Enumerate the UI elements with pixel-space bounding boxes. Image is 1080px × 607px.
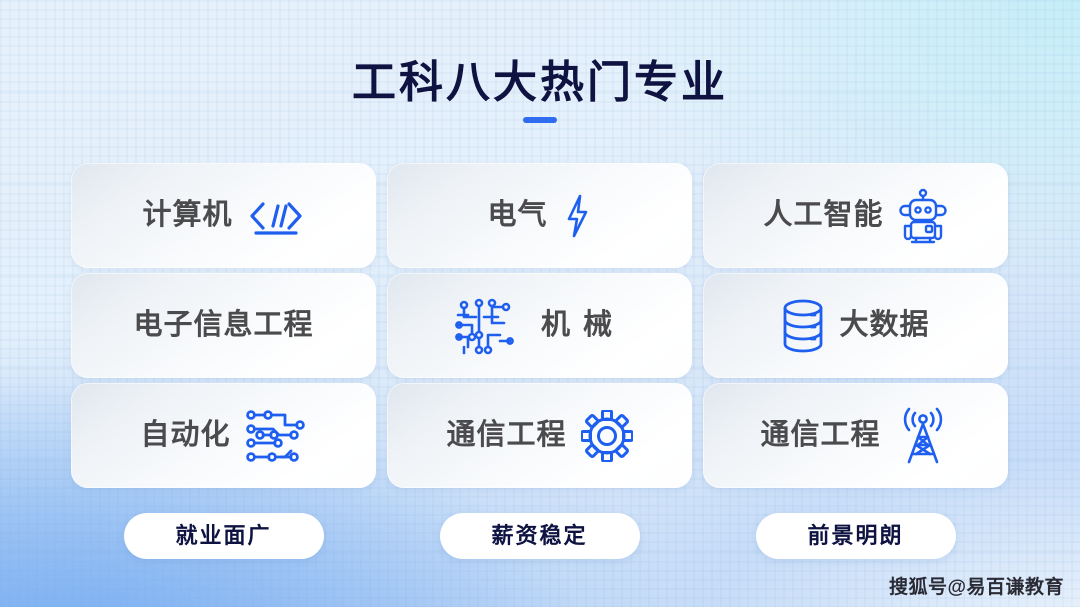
- watermark: 搜狐号@易百谦教育: [889, 572, 1064, 599]
- major-card-label: 人工智能: [763, 201, 883, 230]
- major-card-label: 计算机: [142, 201, 232, 230]
- poster-canvas: 工科八大热门专业 计算机电气人工智能电子信息工程机械大数据自动化通信工程通信工程…: [0, 0, 1080, 607]
- gear-icon: [581, 410, 633, 462]
- network-icon: [245, 407, 307, 465]
- major-card-label: 电气: [487, 201, 547, 230]
- major-card-label: 大数据: [839, 311, 929, 340]
- major-card[interactable]: 计算机: [71, 163, 376, 268]
- tag-pill[interactable]: 就业面广: [124, 513, 324, 559]
- major-card[interactable]: 电子信息工程: [71, 273, 376, 378]
- major-card-label: 机械: [528, 311, 625, 340]
- tag-pill-label: 就业面广: [175, 525, 271, 547]
- code-icon: [247, 196, 305, 236]
- tag-pill-label: 前景明朗: [807, 525, 903, 547]
- major-card[interactable]: 人工智能: [703, 163, 1008, 268]
- major-card-label: 电子信息工程: [133, 311, 313, 340]
- page-title: 工科八大热门专业: [0, 58, 1080, 107]
- major-card-label: 自动化: [140, 421, 230, 450]
- tag-pill-label: 薪资稳定: [491, 525, 587, 547]
- circuit-icon: [454, 297, 514, 355]
- tag-pill[interactable]: 薪资稳定: [440, 513, 640, 559]
- major-card-grid: 计算机电气人工智能电子信息工程机械大数据自动化通信工程通信工程: [71, 163, 1009, 488]
- title-block: 工科八大热门专业: [0, 58, 1080, 123]
- lightning-icon: [562, 193, 592, 239]
- major-card[interactable]: 机械: [387, 273, 692, 378]
- robot-icon: [898, 188, 948, 244]
- major-card[interactable]: 通信工程: [387, 383, 692, 488]
- major-card[interactable]: 自动化: [71, 383, 376, 488]
- title-underline-accent: [523, 117, 557, 123]
- major-card-label: 通信工程: [446, 421, 566, 450]
- antenna-icon: [895, 407, 951, 465]
- major-card[interactable]: 大数据: [703, 273, 1008, 378]
- tag-pill-row: 就业面广薪资稳定前景明朗: [71, 513, 1009, 559]
- major-card-label: 通信工程: [760, 421, 880, 450]
- database-icon: [781, 298, 825, 354]
- major-card[interactable]: 通信工程: [703, 383, 1008, 488]
- tag-pill[interactable]: 前景明朗: [756, 513, 956, 559]
- major-card[interactable]: 电气: [387, 163, 692, 268]
